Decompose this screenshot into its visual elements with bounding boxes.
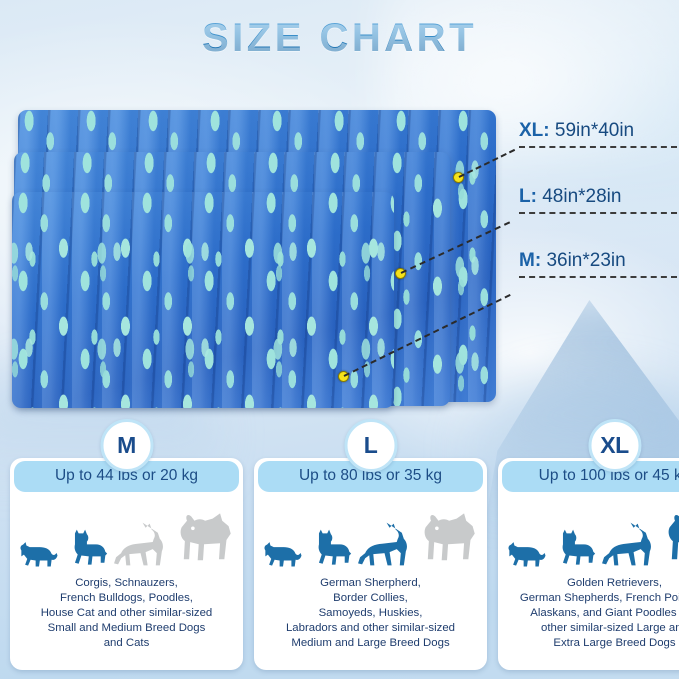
callout-m-size: M: bbox=[519, 250, 541, 271]
dog-silhouette-medium bbox=[600, 518, 656, 570]
size-badge-m: M bbox=[100, 419, 153, 472]
breed-list-xl: Golden Retrievers, German Shepherds, Fre… bbox=[514, 570, 679, 670]
dog-silhouette-small-1 bbox=[262, 536, 304, 570]
dog-silhouettes-l bbox=[254, 492, 487, 570]
page-title: SIZE CHART bbox=[0, 18, 679, 58]
size-card-xl[interactable]: XL Up to 100 lbs or 45 kg Golden Retriev… bbox=[498, 458, 679, 670]
breed-list-l: German Sherpherd, Border Collies, Samoye… bbox=[280, 570, 461, 670]
size-chart-infographic: SIZE CHART XL: 59in*40in L: 48in*28in M:… bbox=[0, 0, 679, 679]
dog-silhouette-large bbox=[171, 510, 235, 570]
dog-silhouette-small-2 bbox=[551, 528, 597, 570]
product-image-stack bbox=[12, 104, 512, 416]
dog-silhouette-medium bbox=[112, 518, 168, 570]
dog-silhouette-large bbox=[415, 510, 479, 570]
size-badge-xl: XL bbox=[588, 419, 641, 472]
callout-xl: XL: 59in*40in bbox=[519, 120, 634, 142]
callout-l-dimensions: 48in*28in bbox=[542, 186, 621, 207]
size-card-list: M Up to 44 lbs or 20 kg Corgis, Schnauze… bbox=[10, 458, 669, 670]
callout-xl-size: XL: bbox=[519, 120, 550, 141]
callout-xl-dimensions: 59in*40in bbox=[555, 120, 634, 141]
dog-silhouettes-m bbox=[10, 492, 243, 570]
dog-silhouette-small-1 bbox=[506, 536, 548, 570]
weight-limit-xl: Up to 100 lbs or 45 kg bbox=[502, 461, 679, 492]
size-badge-l: L bbox=[344, 419, 397, 472]
callout-m: M: 36in*23in bbox=[519, 250, 626, 272]
dog-silhouettes-xl bbox=[498, 492, 679, 570]
dog-silhouette-small-2 bbox=[307, 528, 353, 570]
callout-l-rule bbox=[519, 212, 677, 214]
size-card-l[interactable]: L Up to 80 lbs or 35 kg German Sherpherd… bbox=[254, 458, 487, 670]
size-card-m[interactable]: M Up to 44 lbs or 20 kg Corgis, Schnauze… bbox=[10, 458, 243, 670]
dog-silhouette-small-1 bbox=[18, 536, 60, 570]
callout-m-dimensions: 36in*23in bbox=[546, 250, 625, 271]
callout-l-size: L: bbox=[519, 186, 537, 207]
dog-silhouette-small-2 bbox=[63, 528, 109, 570]
breed-list-m: Corgis, Schnauzers, French Bulldogs, Poo… bbox=[35, 570, 219, 670]
callout-m-rule bbox=[519, 276, 677, 278]
callout-xl-rule bbox=[519, 146, 677, 148]
mat-m bbox=[12, 192, 394, 408]
dog-silhouette-medium bbox=[356, 518, 412, 570]
callout-l: L: 48in*28in bbox=[519, 186, 621, 208]
dog-silhouette-large bbox=[659, 510, 679, 570]
